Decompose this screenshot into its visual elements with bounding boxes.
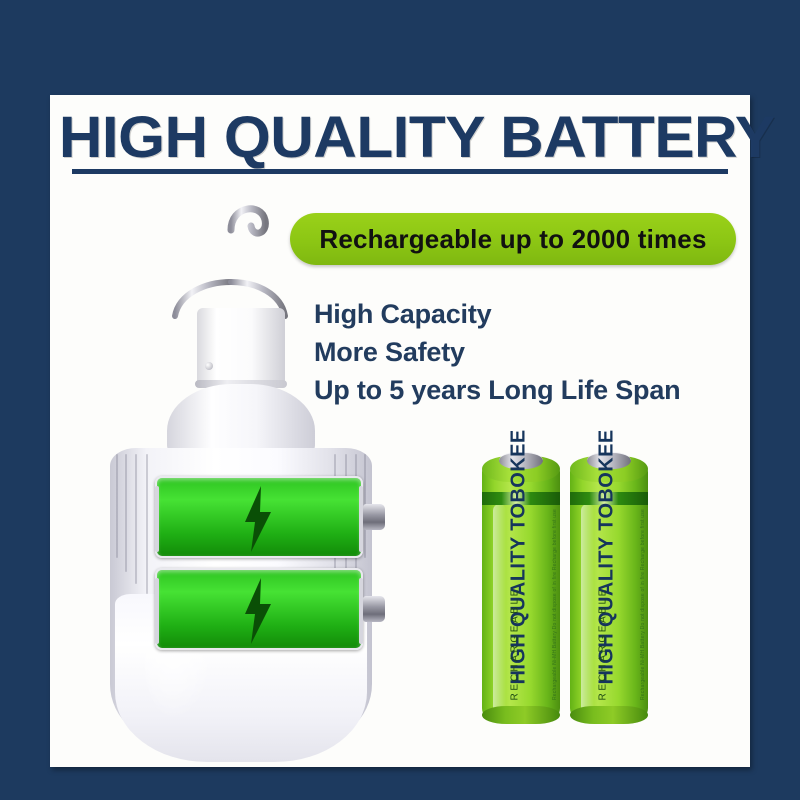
aa-battery-fine-print: Rechargeable Ni-MH Battery Do not dispos…	[552, 509, 558, 700]
aa-battery-2: Rechargeable Ni-MH Battery Do not dispos…	[570, 450, 648, 722]
feature-list: High Capacity More Safety Up to 5 years …	[314, 295, 734, 409]
page-title: HIGH QUALITY BATTERY	[59, 107, 741, 169]
feature-item-long-life-span: Up to 5 years Long Life Span	[314, 371, 734, 409]
aa-battery-highlight	[581, 504, 594, 719]
lightning-bolt-icon	[241, 486, 275, 552]
aa-battery-subtitle-label: RECHARGEABLE	[598, 511, 609, 701]
aa-battery-highlight	[493, 504, 506, 719]
battery-level-indicator-1	[155, 476, 363, 558]
battery-cap-left	[155, 578, 159, 644]
battery-terminal-nub-2	[363, 596, 385, 622]
aa-battery-bottom	[570, 706, 648, 724]
led-bulb-product-image	[75, 190, 375, 760]
rechargeable-badge-label: Rechargeable up to 2000 times	[319, 224, 706, 255]
aa-battery-bottom	[482, 706, 560, 724]
feature-item-more-safety: More Safety	[314, 333, 734, 371]
title-underline-divider	[72, 169, 728, 174]
aa-battery-fine-print: Rechargeable Ni-MH Battery Do not dispos…	[640, 509, 646, 700]
aa-battery-subtitle-label: RECHARGEABLE	[510, 511, 521, 701]
bulb-collar	[197, 308, 285, 386]
lightning-bolt-icon	[241, 578, 275, 644]
feature-item-high-capacity: High Capacity	[314, 295, 734, 333]
battery-level-indicator-2	[155, 568, 363, 650]
product-card: HIGH QUALITY BATTERY Rechargeable up to …	[50, 95, 750, 767]
battery-terminal-nub-1	[363, 504, 385, 530]
page-title-container: HIGH QUALITY BATTERY	[72, 107, 728, 169]
aa-battery-1: Rechargeable Ni-MH Battery Do not dispos…	[482, 450, 560, 722]
battery-cap-left	[155, 486, 159, 552]
bulb-collar-screw	[205, 362, 213, 370]
product-image-canvas: HIGH QUALITY BATTERY Rechargeable up to …	[0, 0, 800, 800]
